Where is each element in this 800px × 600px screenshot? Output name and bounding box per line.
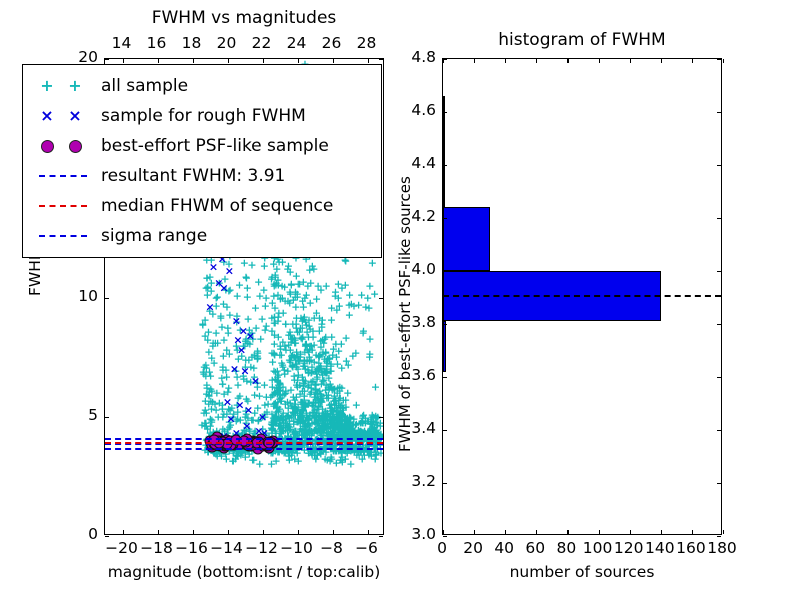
xtick-label-top: 28	[341, 34, 393, 52]
scatter-point-all-sample: +	[269, 420, 278, 431]
scatter-point-all-sample: +	[299, 416, 308, 427]
scatter-point-all-sample: +	[354, 449, 363, 460]
scatter-point-all-sample: +	[300, 420, 309, 431]
scatter-point-all-sample: +	[372, 449, 381, 460]
scatter-point-all-sample: +	[271, 374, 280, 385]
ytick-right	[379, 536, 383, 537]
scatter-point-all-sample: +	[339, 394, 348, 405]
histogram-axes	[442, 58, 722, 535]
scatter-point-all-sample: +	[298, 416, 307, 427]
scatter-point-all-sample: +	[272, 402, 281, 413]
scatter-point-all-sample: +	[279, 421, 288, 432]
ytick-right	[379, 298, 383, 299]
scatter-point-all-sample: +	[295, 388, 304, 399]
scatter-point-all-sample: +	[286, 344, 295, 355]
scatter-point-all-sample: +	[285, 454, 294, 465]
scatter-point-all-sample: +	[235, 391, 244, 402]
scatter-point-all-sample: +	[286, 289, 295, 300]
scatter-point-all-sample: +	[299, 314, 308, 325]
histogram-ytick	[443, 536, 447, 537]
scatter-point-all-sample: +	[277, 412, 286, 423]
scatter-point-all-sample: +	[212, 300, 221, 311]
scatter-point-all-sample: +	[296, 397, 305, 408]
legend-marker-art	[31, 223, 95, 249]
scatter-point-all-sample: +	[272, 277, 281, 288]
scatter-point-all-sample: +	[364, 425, 373, 436]
scatter-point-all-sample: +	[316, 413, 325, 424]
scatter-point-all-sample: +	[332, 419, 341, 430]
scatter-point-all-sample: +	[321, 380, 330, 391]
legend-marker-art: ××	[31, 103, 95, 129]
scatter-point-all-sample: +	[332, 415, 341, 426]
scatter-point-all-sample: +	[317, 423, 326, 434]
scatter-point-all-sample: +	[266, 392, 275, 403]
scatter-point-all-sample: +	[291, 353, 300, 364]
scatter-point-all-sample: +	[337, 421, 346, 432]
scatter-point-all-sample: +	[327, 314, 336, 325]
scatter-point-all-sample: +	[202, 362, 211, 373]
scatter-point-all-sample: +	[241, 335, 250, 346]
scatter-point-all-sample: +	[326, 360, 335, 371]
scatter-point-all-sample: +	[322, 411, 331, 422]
scatter-point-all-sample: +	[343, 387, 352, 398]
scatter-point-all-sample: +	[344, 359, 353, 370]
scatter-point-all-sample: +	[300, 395, 309, 406]
xtick-top	[193, 59, 194, 63]
scatter-point-all-sample: +	[219, 298, 228, 309]
scatter-point-all-sample: +	[261, 292, 270, 303]
scatter-point-all-sample: +	[376, 421, 383, 432]
ytick-right	[379, 59, 383, 60]
scatter-point-all-sample: +	[214, 411, 223, 422]
scatter-point-all-sample: +	[201, 371, 210, 382]
scatter-point-all-sample: +	[311, 453, 320, 464]
histogram-bar	[443, 321, 446, 371]
scatter-point-all-sample: +	[332, 414, 341, 425]
scatter-point-all-sample: +	[333, 388, 342, 399]
scatter-point-all-sample: +	[348, 431, 357, 442]
scatter-point-all-sample: +	[279, 407, 288, 418]
scatter-point-all-sample: +	[360, 431, 369, 442]
scatter-point-all-sample: +	[286, 385, 295, 396]
scatter-point-all-sample: +	[225, 349, 234, 360]
scatter-point-all-sample: +	[314, 415, 323, 426]
scatter-point-all-sample: +	[324, 390, 333, 401]
scatter-point-all-sample: +	[300, 360, 309, 371]
scatter-point-all-sample: +	[337, 451, 346, 462]
scatter-point-all-sample: +	[331, 395, 340, 406]
scatter-point-all-sample: +	[312, 411, 321, 422]
histogram-ytick-label: 3.6	[386, 366, 436, 384]
scatter-point-all-sample: +	[354, 300, 363, 311]
scatter-point-all-sample: +	[374, 431, 383, 442]
scatter-point-all-sample: +	[276, 412, 285, 423]
scatter-point-all-sample: +	[314, 358, 323, 369]
scatter-point-all-sample: +	[275, 379, 284, 390]
scatter-point-all-sample: +	[343, 412, 352, 423]
scatter-point-all-sample: +	[281, 425, 290, 436]
scatter-point-all-sample: +	[218, 364, 227, 375]
scatter-point-all-sample: +	[351, 431, 360, 442]
scatter-point-all-sample: +	[337, 413, 346, 424]
scatter-point-all-sample: +	[241, 333, 250, 344]
scatter-point-all-sample: +	[241, 354, 250, 365]
scatter-point-all-sample: +	[208, 309, 217, 320]
scatter-point-all-sample: +	[297, 404, 306, 415]
scatter-point-all-sample: +	[352, 449, 361, 460]
scatter-point-all-sample: +	[359, 431, 368, 442]
scatter-point-all-sample: +	[337, 407, 346, 418]
scatter-point-all-sample: +	[345, 431, 354, 442]
histogram-ytick-right	[717, 59, 721, 60]
scatter-point-all-sample: +	[269, 415, 278, 426]
scatter-point-all-sample: +	[300, 360, 309, 371]
scatter-point-all-sample: +	[328, 417, 337, 428]
scatter-point-all-sample: +	[335, 409, 344, 420]
scatter-point-all-sample: +	[312, 414, 321, 425]
scatter-point-all-sample: +	[200, 315, 209, 326]
scatter-point-all-sample: +	[295, 355, 304, 366]
scatter-point-rough-fwhm: ×	[244, 404, 253, 415]
scatter-point-all-sample: +	[337, 421, 346, 432]
scatter-point-all-sample: +	[331, 286, 340, 297]
scatter-point-all-sample: +	[260, 411, 269, 422]
scatter-point-all-sample: +	[301, 425, 310, 436]
histogram-title: histogram of FWHM	[442, 30, 722, 50]
scatter-point-all-sample: +	[292, 392, 301, 403]
histogram-xtick	[723, 530, 724, 534]
scatter-point-all-sample: +	[370, 422, 379, 433]
scatter-point-all-sample: +	[218, 399, 227, 410]
scatter-point-all-sample: +	[330, 392, 339, 403]
scatter-point-all-sample: +	[347, 431, 356, 442]
scatter-point-all-sample: +	[216, 311, 225, 322]
scatter-point-all-sample: +	[318, 347, 327, 358]
scatter-point-all-sample: +	[307, 383, 316, 394]
scatter-point-all-sample: +	[303, 345, 312, 356]
scatter-point-all-sample: +	[233, 414, 242, 425]
xtick-top	[298, 59, 299, 63]
scatter-point-all-sample: +	[247, 352, 256, 363]
scatter-point-all-sample: +	[291, 302, 300, 313]
scatter-point-all-sample: +	[299, 378, 308, 389]
scatter-point-all-sample: +	[347, 299, 356, 310]
scatter-point-all-sample: +	[376, 418, 383, 429]
scatter-point-all-sample: +	[253, 345, 262, 356]
scatter-point-all-sample: +	[324, 383, 333, 394]
scatter-point-all-sample: +	[365, 426, 374, 437]
scatter-point-all-sample: +	[311, 365, 320, 376]
scatter-point-all-sample: +	[339, 423, 348, 434]
scatter-point-all-sample: +	[298, 385, 307, 396]
scatter-point-all-sample: +	[352, 431, 361, 442]
scatter-point-all-sample: +	[305, 265, 314, 276]
scatter-point-rough-fwhm: ×	[230, 364, 239, 375]
xtick-top	[123, 59, 124, 63]
scatter-point-all-sample: +	[281, 418, 290, 429]
scatter-point-all-sample: +	[288, 403, 297, 414]
scatter-point-all-sample: +	[303, 427, 312, 438]
scatter-point-all-sample: +	[304, 412, 313, 423]
scatter-point-all-sample: +	[280, 282, 289, 293]
scatter-point-all-sample: +	[300, 391, 309, 402]
scatter-point-all-sample: +	[205, 387, 214, 398]
xtick-top	[228, 59, 229, 63]
scatter-point-all-sample: +	[220, 273, 229, 284]
scatter-point-all-sample: +	[290, 334, 299, 345]
scatter-point-all-sample: +	[326, 359, 335, 370]
scatter-point-all-sample: +	[345, 289, 354, 300]
scatter-point-all-sample: +	[365, 334, 374, 345]
scatter-point-all-sample: +	[296, 313, 305, 324]
scatter-point-all-sample: +	[312, 407, 321, 418]
scatter-point-all-sample: +	[314, 365, 323, 376]
scatter-point-all-sample: +	[267, 325, 276, 336]
scatter-point-all-sample: +	[368, 257, 377, 268]
ytick-label-left: 10	[50, 287, 98, 305]
legend-marker-art: ++	[31, 73, 95, 99]
scatter-point-all-sample: +	[304, 320, 313, 331]
histogram-xtick-top	[599, 59, 600, 63]
scatter-point-all-sample: +	[283, 419, 292, 430]
scatter-point-all-sample: +	[233, 392, 242, 403]
scatter-point-all-sample: +	[287, 279, 296, 290]
scatter-point-all-sample: +	[364, 431, 373, 442]
legend-item-0: ++all sample	[31, 71, 371, 101]
scatter-point-all-sample: +	[352, 400, 361, 411]
histogram-xtick-top	[723, 59, 724, 63]
scatter-point-all-sample: +	[207, 352, 216, 363]
scatter-point-all-sample: +	[288, 359, 297, 370]
scatter-point-all-sample: +	[304, 332, 313, 343]
figure-canvas: ++++++++++++++++++++++++++++++++++++++++…	[0, 0, 800, 600]
scatter-point-all-sample: +	[359, 431, 368, 442]
scatter-point-all-sample: +	[272, 413, 281, 424]
scatter-point-all-sample: +	[341, 424, 350, 435]
scatter-point-all-sample: +	[334, 414, 343, 425]
scatter-point-all-sample: +	[321, 331, 330, 342]
scatter-point-all-sample: +	[304, 427, 313, 438]
scatter-point-all-sample: +	[330, 431, 339, 442]
scatter-point-all-sample: +	[309, 396, 318, 407]
scatter-point-all-sample: +	[236, 415, 245, 426]
scatter-point-all-sample: +	[290, 395, 299, 406]
scatter-point-all-sample: +	[315, 420, 324, 431]
scatter-point-all-sample: +	[289, 415, 298, 426]
scatter-point-all-sample: +	[318, 404, 327, 415]
scatter-point-all-sample: +	[329, 427, 338, 438]
scatter-point-all-sample: +	[295, 409, 304, 420]
scatter-point-all-sample: +	[301, 420, 310, 431]
scatter-point-all-sample: +	[306, 277, 315, 288]
scatter-point-all-sample: +	[321, 405, 330, 416]
scatter-point-all-sample: +	[319, 409, 328, 420]
scatter-point-all-sample: +	[319, 374, 328, 385]
scatter-point-all-sample: +	[277, 358, 286, 369]
scatter-point-all-sample: +	[273, 365, 282, 376]
legend-item-label: sigma range	[95, 226, 207, 246]
scatter-point-all-sample: +	[339, 419, 348, 430]
scatter-point-all-sample: +	[270, 317, 279, 328]
scatter-point-all-sample: +	[302, 326, 311, 337]
scatter-point-all-sample: +	[335, 385, 344, 396]
scatter-point-all-sample: +	[313, 280, 322, 291]
scatter-point-all-sample: +	[327, 406, 336, 417]
scatter-point-all-sample: +	[343, 426, 352, 437]
scatter-point-all-sample: +	[327, 382, 336, 393]
scatter-point-all-sample: +	[335, 416, 344, 427]
scatter-point-all-sample: +	[291, 291, 300, 302]
scatter-point-all-sample: +	[306, 377, 315, 388]
scatter-point-all-sample: +	[317, 391, 326, 402]
scatter-point-all-sample: +	[232, 310, 241, 321]
xtick-bottom	[158, 530, 159, 534]
scatter-point-all-sample: +	[310, 416, 319, 427]
scatter-point-all-sample: +	[310, 356, 319, 367]
scatter-point-all-sample: +	[316, 423, 325, 434]
histogram-xtick-top	[474, 59, 475, 63]
scatter-point-all-sample: +	[317, 419, 326, 430]
scatter-point-all-sample: +	[359, 427, 368, 438]
scatter-point-all-sample: +	[228, 411, 237, 422]
scatter-point-all-sample: +	[268, 419, 277, 430]
histogram-xtick-top	[661, 59, 662, 63]
scatter-point-all-sample: +	[344, 300, 353, 311]
scatter-point-all-sample: +	[259, 284, 268, 295]
scatter-point-all-sample: +	[286, 423, 295, 434]
scatter-point-all-sample: +	[290, 351, 299, 362]
scatter-point-all-sample: +	[306, 354, 315, 365]
scatter-point-all-sample: +	[248, 455, 257, 466]
scatter-point-all-sample: +	[281, 319, 290, 330]
scatter-point-all-sample: +	[292, 379, 301, 390]
scatter-point-all-sample: +	[298, 421, 307, 432]
scatter-point-all-sample: +	[202, 272, 211, 283]
scatter-point-all-sample: +	[233, 379, 242, 390]
scatter-point-all-sample: +	[349, 431, 358, 442]
scatter-point-all-sample: +	[270, 318, 279, 329]
scatter-point-all-sample: +	[288, 318, 297, 329]
scatter-point-all-sample: +	[331, 426, 340, 437]
scatter-point-all-sample: +	[334, 420, 343, 431]
scatter-point-all-sample: +	[234, 354, 243, 365]
scatter-point-all-sample: +	[295, 278, 304, 289]
scatter-point-all-sample: +	[307, 425, 316, 436]
legend-marker-art	[31, 193, 95, 219]
scatter-point-all-sample: +	[268, 357, 277, 368]
scatter-point-all-sample: +	[287, 333, 296, 344]
scatter-point-all-sample: +	[360, 449, 369, 460]
scatter-point-all-sample: +	[276, 424, 285, 435]
scatter-point-all-sample: +	[321, 348, 330, 359]
scatter-point-all-sample: +	[253, 402, 262, 413]
scatter-point-all-sample: +	[305, 410, 314, 421]
scatter-point-all-sample: +	[281, 421, 290, 432]
scatter-point-all-sample: +	[337, 425, 346, 436]
ytick-right	[379, 417, 383, 418]
scatter-point-all-sample: +	[206, 371, 215, 382]
scatter-point-all-sample: +	[317, 319, 326, 330]
scatter-point-all-sample: +	[207, 286, 216, 297]
scatter-point-all-sample: +	[267, 347, 276, 358]
scatter-point-all-sample: +	[305, 356, 314, 367]
scatter-point-all-sample: +	[279, 426, 288, 437]
scatter-point-all-sample: +	[341, 333, 350, 344]
scatter-point-all-sample: +	[283, 410, 292, 421]
scatter-point-all-sample: +	[278, 382, 287, 393]
scatter-point-all-sample: +	[276, 340, 285, 351]
scatter-point-all-sample: +	[304, 368, 313, 379]
scatter-point-all-sample: +	[298, 399, 307, 410]
scatter-point-all-sample: +	[310, 404, 319, 415]
scatter-point-all-sample: +	[363, 427, 372, 438]
scatter-point-all-sample: +	[239, 340, 248, 351]
scatter-point-all-sample: +	[361, 418, 370, 429]
xtick-top	[263, 59, 264, 63]
scatter-point-all-sample: +	[237, 351, 246, 362]
scatter-point-all-sample: +	[367, 419, 376, 430]
scatter-point-all-sample: +	[325, 399, 334, 410]
scatter-point-all-sample: +	[269, 291, 278, 302]
scatter-point-all-sample: +	[272, 415, 281, 426]
scatter-point-all-sample: +	[285, 422, 294, 433]
scatter-point-all-sample: +	[319, 413, 328, 424]
scatter-point-all-sample: +	[319, 337, 328, 348]
scatter-point-all-sample: +	[254, 414, 263, 425]
scatter-point-all-sample: +	[212, 388, 221, 399]
scatter-point-all-sample: +	[228, 455, 237, 466]
scatter-point-all-sample: +	[284, 425, 293, 436]
scatter-point-all-sample: +	[219, 388, 228, 399]
scatter-point-all-sample: +	[271, 411, 280, 422]
scatter-point-all-sample: +	[292, 417, 301, 428]
scatter-point-all-sample: +	[274, 332, 283, 343]
scatter-point-all-sample: +	[287, 350, 296, 361]
scatter-point-all-sample: +	[296, 333, 305, 344]
scatter-point-all-sample: +	[367, 431, 376, 442]
scatter-point-all-sample: +	[270, 418, 279, 429]
scatter-point-all-sample: +	[312, 307, 321, 318]
legend: ++all sample××sample for rough FWHMbest-…	[22, 64, 382, 258]
scatter-point-all-sample: +	[290, 352, 299, 363]
scatter-point-all-sample: +	[308, 407, 317, 418]
scatter-point-all-sample: +	[368, 431, 377, 442]
scatter-point-all-sample: +	[308, 331, 317, 342]
scatter-point-all-sample: +	[321, 418, 330, 429]
scatter-point-all-sample: +	[275, 394, 284, 405]
scatter-point-all-sample: +	[351, 431, 360, 442]
dashed-line-icon	[39, 175, 87, 177]
scatter-point-all-sample: +	[363, 416, 372, 427]
scatter-point-all-sample: +	[255, 290, 264, 301]
scatter-point-all-sample: +	[341, 394, 350, 405]
scatter-point-all-sample: +	[314, 411, 323, 422]
scatter-point-all-sample: +	[337, 410, 346, 421]
scatter-point-all-sample: +	[320, 407, 329, 418]
scatter-point-all-sample: +	[315, 397, 324, 408]
scatter-point-rough-fwhm: ×	[237, 345, 246, 356]
scatter-point-all-sample: +	[310, 379, 319, 390]
scatter-point-all-sample: +	[219, 334, 228, 345]
scatter-point-all-sample: +	[336, 407, 345, 418]
scatter-point-all-sample: +	[332, 409, 341, 420]
scatter-point-all-sample: +	[334, 424, 343, 435]
histogram-ytick	[443, 324, 447, 325]
scatter-point-all-sample: +	[331, 420, 340, 431]
scatter-point-all-sample: +	[274, 420, 283, 431]
scatter-point-all-sample: +	[276, 393, 285, 404]
scatter-point-all-sample: +	[269, 258, 278, 269]
